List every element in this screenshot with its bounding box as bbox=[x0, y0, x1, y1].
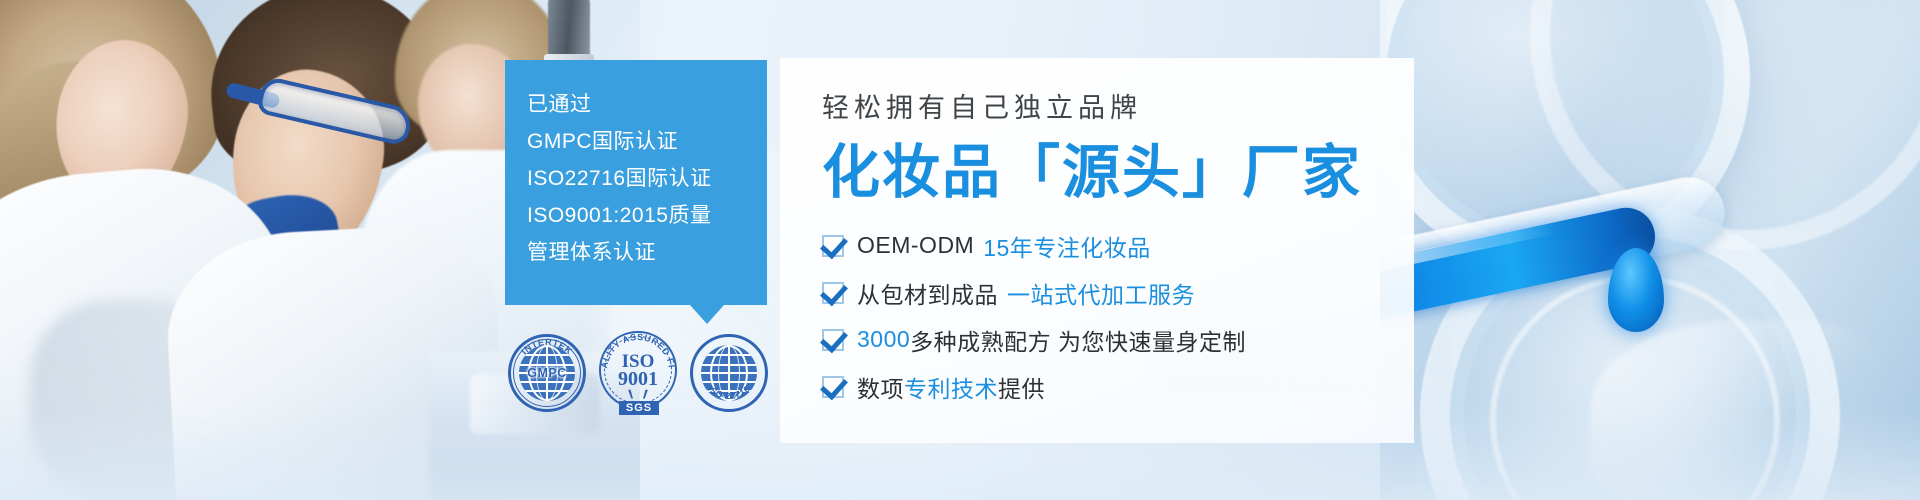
feature-item-3: 3000多种成熟配方 为您快速量身定制 bbox=[822, 316, 1414, 363]
feature-4-dark-1: 数项 bbox=[857, 370, 904, 404]
feature-item-1: OEM-ODM15年专注化妆品 bbox=[822, 222, 1414, 269]
iso22716-logo: ISO 22716 bbox=[690, 334, 768, 412]
quality-assured-arc-label: QUALITY ASSURED FIRM bbox=[599, 329, 677, 369]
intertek-gmpc-logo: INTERTEK GMPC bbox=[508, 334, 586, 412]
panel-subheadline: 轻松拥有自己独立品牌 bbox=[822, 88, 1414, 128]
content-panel: 轻松拥有自己独立品牌 化妆品「源头」厂家 OEM-ODM15年专注化妆品 从包材… bbox=[780, 58, 1414, 443]
certification-box: 已通过 GMPC国际认证 ISO22716国际认证 ISO9001:2015质量… bbox=[505, 60, 767, 305]
feature-3-dark-2: 多种成熟配方 为您快速量身定制 bbox=[910, 323, 1246, 357]
feature-item-2: 从包材到成品一站式代加工服务 bbox=[822, 269, 1414, 316]
feature-2-dark-1: 从包材到成品 bbox=[857, 276, 998, 310]
gmpc-label: GMPC bbox=[508, 366, 586, 380]
cert-line-1: 已通过 bbox=[527, 86, 767, 123]
quality-assured-arc-text: QUALITY ASSURED FIRM bbox=[599, 329, 677, 407]
feature-2-blue: 一站式代加工服务 bbox=[1007, 276, 1195, 310]
feature-1-blue: 15年专注化妆品 bbox=[983, 229, 1151, 263]
svg-text:QUALITY ASSURED FIRM: QUALITY ASSURED FIRM bbox=[599, 329, 677, 369]
intertek-arc-label: INTERTEK bbox=[519, 337, 574, 357]
feature-4-dark-2: 提供 bbox=[998, 370, 1045, 404]
cert-line-4: ISO9001:2015质量 bbox=[527, 197, 767, 234]
cert-line-2: GMPC国际认证 bbox=[527, 123, 767, 160]
check-icon bbox=[822, 282, 844, 304]
svg-text:INTERTEK: INTERTEK bbox=[519, 337, 574, 357]
cert-line-3: ISO22716国际认证 bbox=[527, 160, 767, 197]
feature-4-blue: 专利技术 bbox=[904, 370, 998, 404]
cert-line-5: 管理体系认证 bbox=[527, 234, 767, 271]
iso9001-sgs-logo: QUALITY ASSURED FIRM ISO 9001 SGS bbox=[597, 331, 679, 415]
feature-list: OEM-ODM15年专注化妆品 从包材到成品一站式代加工服务 3000多种成熟配… bbox=[822, 222, 1414, 410]
feature-item-4: 数项专利技术提供 bbox=[822, 363, 1414, 410]
check-icon bbox=[822, 235, 844, 257]
feature-3-blue: 3000 bbox=[857, 326, 910, 353]
iso22716-arc-text: ISO 22716 bbox=[690, 332, 768, 410]
check-icon bbox=[822, 376, 844, 398]
panel-headline: 化妆品「源头」厂家 bbox=[822, 138, 1414, 208]
iso22716-arc-label: ISO 22716 bbox=[706, 384, 752, 401]
svg-text:ISO 22716: ISO 22716 bbox=[706, 384, 752, 401]
feature-1-dark-1: OEM-ODM bbox=[857, 232, 974, 259]
promo-banner: 已通过 GMPC国际认证 ISO22716国际认证 ISO9001:2015质量… bbox=[0, 0, 1920, 500]
check-icon bbox=[822, 329, 844, 351]
certification-logos: INTERTEK GMPC QUALITY ASSURED FIRM ISO 9… bbox=[508, 318, 768, 428]
